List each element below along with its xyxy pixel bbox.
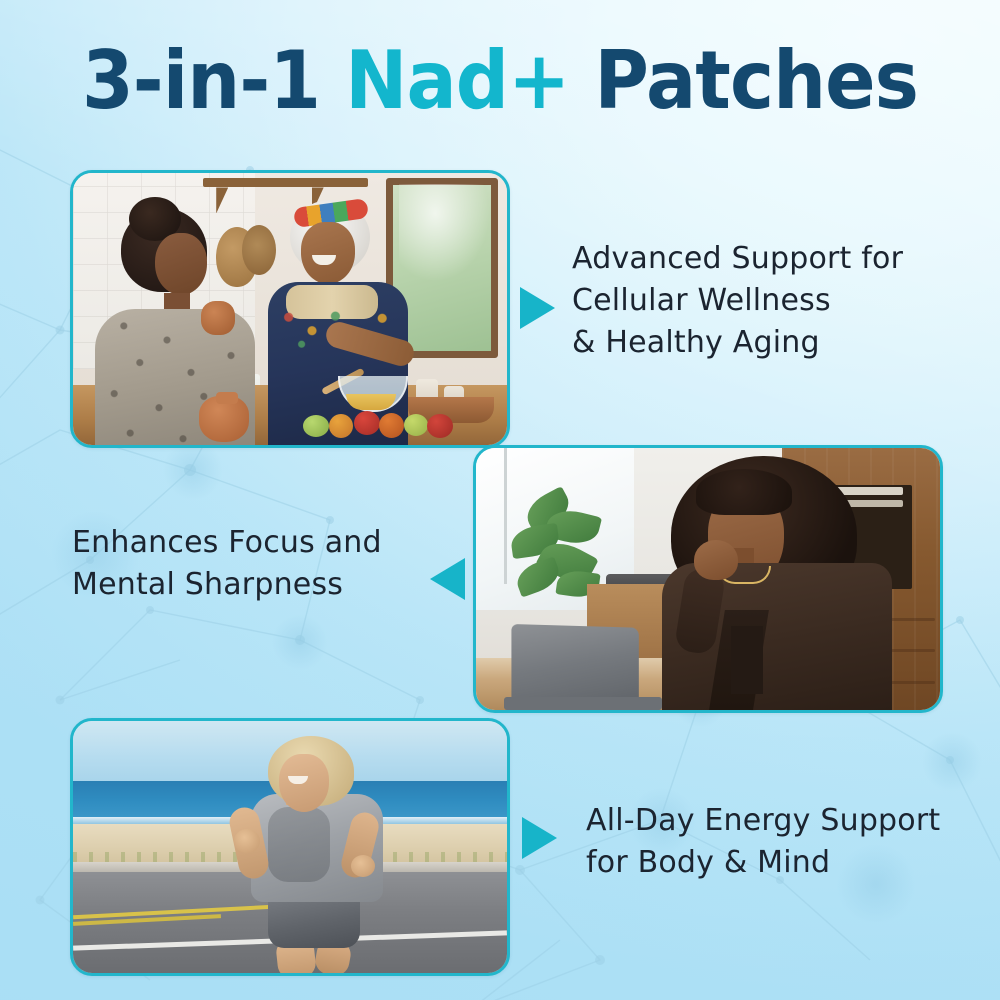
benefit-image-cellular-wellness [70,170,510,448]
triangle-right-icon-cellular [520,287,555,329]
title-part-2: Patches [569,34,918,127]
benefit-image-focus-sharpness [473,445,943,713]
infographic-canvas: 3-in-1 Nad+ Patches [0,0,1000,1000]
triangle-right-icon-energy [522,817,557,859]
runner-scene [73,721,507,973]
benefit-text-focus-sharpness: Enhances Focus and Mental Sharpness [72,522,422,606]
page-title: 3-in-1 Nad+ Patches [35,38,965,124]
benefit-text-cellular-wellness: Advanced Support for Cellular Wellness &… [572,238,972,364]
office-scene [476,448,940,710]
kitchen-scene [73,173,507,445]
title-part-1: 3-in-1 [82,34,345,127]
title-accent-nad: Nad+ [345,34,569,127]
triangle-left-icon-focus [430,558,465,600]
benefit-text-all-day-energy: All-Day Energy Support for Body & Mind [586,800,986,884]
benefit-image-all-day-energy [70,718,510,976]
